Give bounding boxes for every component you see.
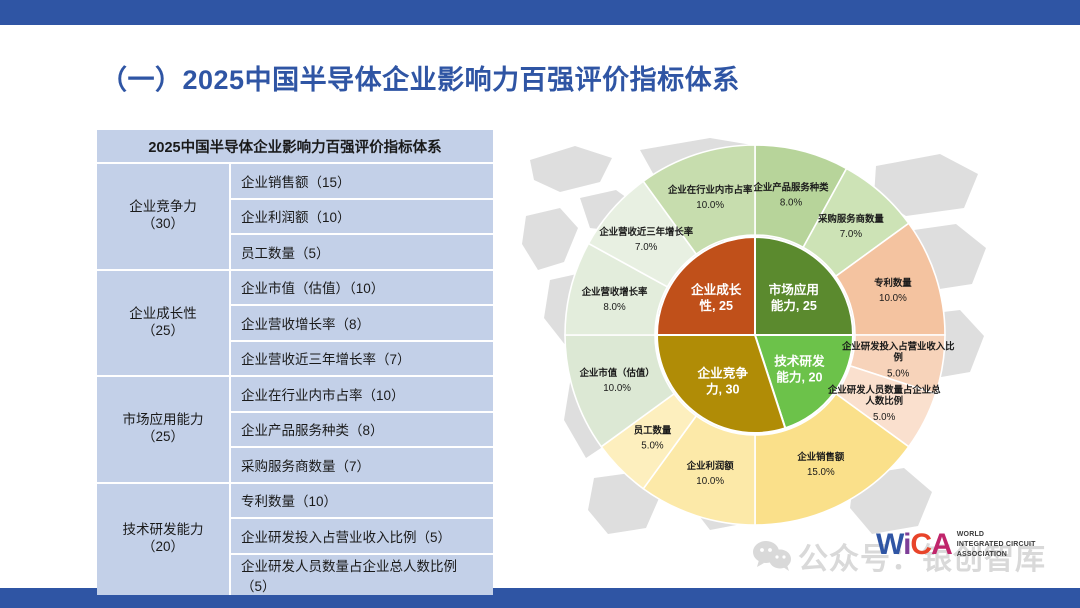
category-name: 企业成长性: [107, 306, 219, 323]
svg-text:企业市值（估值）: 企业市值（估值）: [579, 367, 655, 378]
category-weight: （25）: [107, 429, 219, 446]
svg-text:10.0%: 10.0%: [603, 383, 631, 394]
svg-text:5.0%: 5.0%: [641, 441, 664, 452]
svg-text:员工数量: 员工数量: [634, 425, 672, 436]
table-row: 企业成长性 （25） 企业市值（估值）（10）: [97, 271, 493, 305]
svg-text:7.0%: 7.0%: [635, 242, 658, 253]
table-item-cell: 采购服务商数量（7）: [231, 448, 493, 482]
table-category-cell: 企业成长性 （25）: [97, 271, 231, 376]
table-item-cell: 企业研发投入占营业收入比例（5）: [231, 519, 493, 553]
svg-text:企业营收近三年增长率: 企业营收近三年增长率: [598, 226, 693, 237]
svg-text:10.0%: 10.0%: [879, 293, 907, 304]
indicator-donut-chart: 企业产品服务种类8.0%采购服务商数量7.0%专利数量10.0%企业研发投入占营…: [520, 120, 990, 580]
table-item-cell: 企业营收增长率（8）: [231, 306, 493, 340]
category-name: 市场应用能力: [107, 412, 219, 429]
svg-text:采购服务商数量: 采购服务商数量: [817, 213, 884, 224]
wica-letter-w: W: [876, 528, 903, 561]
svg-text:7.0%: 7.0%: [840, 229, 863, 240]
category-name: 技术研发能力: [107, 522, 219, 539]
table-item-cell: 员工数量（5）: [231, 235, 493, 269]
table-row: 市场应用能力 （25） 企业在行业内市占率（10）: [97, 377, 493, 411]
top-brand-band: [0, 0, 1080, 25]
wica-logo: WiCA WORLD INTEGRATED CIRCUIT ASSOCIATIO…: [876, 530, 1036, 560]
wica-subtitle-line1: WORLD: [957, 531, 984, 538]
category-weight: （25）: [107, 323, 219, 340]
chart-svg: 企业产品服务种类8.0%采购服务商数量7.0%专利数量10.0%企业研发投入占营…: [520, 120, 990, 580]
inner-ring: [657, 237, 853, 433]
svg-text:企业利润额: 企业利润额: [686, 460, 735, 471]
svg-text:8.0%: 8.0%: [603, 302, 626, 313]
table-header-row: 2025中国半导体企业影响力百强评价指标体系: [97, 130, 493, 162]
svg-text:5.0%: 5.0%: [873, 412, 896, 423]
table-item-cell: 企业营收近三年增长率（7）: [231, 342, 493, 376]
category-name: 企业竞争力: [107, 199, 219, 216]
page-title: （一）2025中国半导体企业影响力百强评价指标体系: [100, 58, 740, 97]
table-item-cell: 企业产品服务种类（8）: [231, 413, 493, 447]
svg-text:15.0%: 15.0%: [807, 467, 835, 478]
wica-subtitle-line3: ASSOCIATION: [957, 551, 1007, 558]
table-category-cell: 技术研发能力 （20）: [97, 484, 231, 595]
table-item-cell: 企业市值（估值）（10）: [231, 271, 493, 305]
table-category-cell: 企业竞争力 （30）: [97, 164, 231, 269]
table-item-cell: 专利数量（10）: [231, 484, 493, 518]
svg-text:5.0%: 5.0%: [887, 369, 910, 380]
wica-logo-subtitle: WORLD INTEGRATED CIRCUIT ASSOCIATION: [957, 530, 1036, 560]
category-weight: （30）: [107, 216, 219, 233]
svg-text:企业在行业内市占率: 企业在行业内市占率: [667, 184, 753, 195]
table-row: 企业竞争力 （30） 企业销售额（15）: [97, 164, 493, 198]
svg-text:企业产品服务种类: 企业产品服务种类: [753, 182, 830, 193]
svg-text:专利数量: 专利数量: [874, 277, 912, 288]
wica-letter-c: C: [910, 528, 931, 561]
table-row: 技术研发能力 （20） 专利数量（10）: [97, 484, 493, 518]
table-item-cell: 企业销售额（15）: [231, 164, 493, 198]
category-weight: （20）: [107, 539, 219, 556]
wechat-icon: [752, 540, 792, 572]
svg-text:8.0%: 8.0%: [780, 198, 803, 209]
wica-subtitle-line2: INTEGRATED CIRCUIT: [957, 541, 1036, 548]
svg-text:企业销售额: 企业销售额: [796, 451, 845, 462]
table-category-cell: 市场应用能力 （25）: [97, 377, 231, 482]
wica-letter-a: A: [931, 528, 952, 561]
table-header-cell: 2025中国半导体企业影响力百强评价指标体系: [97, 130, 493, 162]
table-item-cell: 企业研发人员数量占企业总人数比例（5）: [231, 555, 493, 595]
table-item-cell: 企业利润额（10）: [231, 200, 493, 234]
svg-text:企业营收增长率: 企业营收增长率: [581, 286, 648, 297]
svg-text:10.0%: 10.0%: [696, 200, 724, 211]
indicator-table: 2025中国半导体企业影响力百强评价指标体系 企业竞争力 （30） 企业销售额（…: [97, 128, 493, 597]
wica-logo-mark: WiCA: [876, 530, 952, 560]
table-item-cell: 企业在行业内市占率（10）: [231, 377, 493, 411]
svg-text:10.0%: 10.0%: [696, 476, 724, 487]
